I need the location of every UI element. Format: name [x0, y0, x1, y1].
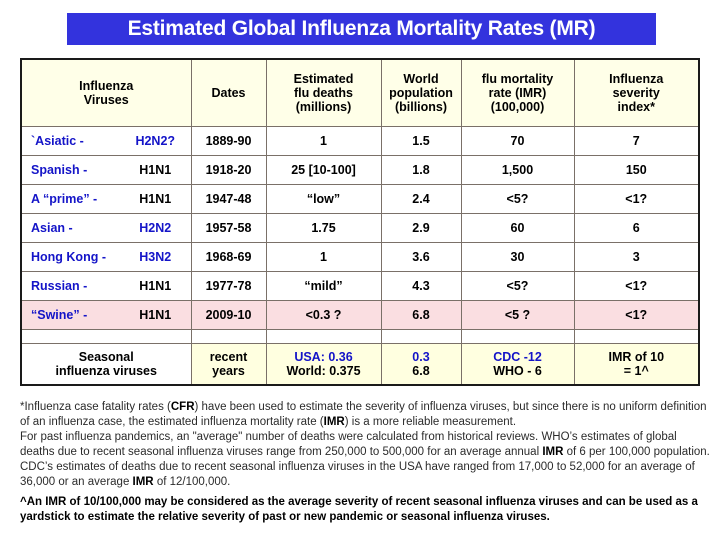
virus-subtype: H1N1 [128, 279, 183, 293]
cell-virus: Russian -H1N1 [21, 272, 191, 301]
seasonal-influenza-row: Seasonalinfluenza virusesrecentyearsUSA:… [21, 344, 699, 386]
cell-world-population: 3.6 [381, 243, 461, 272]
cell-dates: 1889-90 [191, 127, 266, 156]
virus-subtype: H3N2 [128, 250, 183, 264]
virus-name: “Swine” - [31, 308, 128, 322]
header-line: population [389, 86, 453, 100]
header-line: (millions) [296, 100, 352, 114]
header-line: (billions) [395, 100, 447, 114]
cell-flu-mortality-rate: 60 [461, 214, 574, 243]
spacer-cell [574, 330, 699, 344]
header-line: rate (IMR) [489, 86, 547, 100]
spacer-cell [381, 330, 461, 344]
table-row: `Asiatic -H2N2?1889-9011.5707 [21, 127, 699, 156]
cell-virus: Asian -H2N2 [21, 214, 191, 243]
column-header-influenza-viruses: Influenza Viruses [21, 59, 191, 127]
virus-name: Spanish - [31, 163, 128, 177]
virus-name: Asian - [31, 221, 128, 235]
cell-virus: A “prime” -H1N1 [21, 185, 191, 214]
virus-name: Russian - [31, 279, 128, 293]
cell-virus: Hong Kong -H3N2 [21, 243, 191, 272]
cell-world-population: 1.8 [381, 156, 461, 185]
cell-dates: 1918-20 [191, 156, 266, 185]
header-line: Estimated [294, 72, 354, 86]
table-row: A “prime” -H1N11947-48“low”2.4<5?<1? [21, 185, 699, 214]
cell-estimated-flu-deaths: 1 [266, 127, 381, 156]
virus-name: Hong Kong - [31, 250, 128, 264]
seasonal-line-1: 0.3 [384, 350, 459, 364]
cell-estimated-flu-deaths: “mild” [266, 272, 381, 301]
cell-seasonal-severity: IMR of 10= 1^ [574, 344, 699, 386]
cell-dates: 1968-69 [191, 243, 266, 272]
header-line: flu deaths [294, 86, 353, 100]
seasonal-line-1: Seasonal [24, 350, 189, 364]
footnotes-block: *Influenza case fatality rates (CFR) hav… [20, 400, 710, 525]
seasonal-line-1: recent [194, 350, 264, 364]
cell-flu-mortality-rate: <5? [461, 272, 574, 301]
cell-dates: 2009-10 [191, 301, 266, 330]
cell-severity-index: 6 [574, 214, 699, 243]
cell-severity-index: 7 [574, 127, 699, 156]
footnote-text: of 12/100,000. [154, 476, 231, 488]
cell-flu-mortality-rate: <5? [461, 185, 574, 214]
footnote-bold-imr: IMR [542, 446, 563, 458]
header-line: Dates [211, 86, 245, 100]
cell-world-population: 6.8 [381, 301, 461, 330]
column-header-dates: Dates [191, 59, 266, 127]
cell-world-population: 4.3 [381, 272, 461, 301]
cell-flu-mortality-rate: 70 [461, 127, 574, 156]
table-row: Hong Kong -H3N21968-6913.6303 [21, 243, 699, 272]
column-header-world-population: World population (billions) [381, 59, 461, 127]
header-line: index* [617, 100, 655, 114]
cell-world-population: 2.9 [381, 214, 461, 243]
cell-severity-index: <1? [574, 272, 699, 301]
cell-dates: 1947-48 [191, 185, 266, 214]
header-line: severity [613, 86, 660, 100]
spacer-cell [461, 330, 574, 344]
cell-seasonal-imr: CDC -12WHO - 6 [461, 344, 574, 386]
virus-name: A “prime” - [31, 192, 128, 206]
table-row: Asian -H2N21957-581.752.9606 [21, 214, 699, 243]
cell-world-population: 1.5 [381, 127, 461, 156]
cell-severity-index: <1? [574, 301, 699, 330]
seasonal-line-2: World: 0.375 [269, 364, 379, 378]
virus-subtype: H1N1 [128, 163, 183, 177]
cell-virus: “Swine” -H1N1 [21, 301, 191, 330]
cell-severity-index: 150 [574, 156, 699, 185]
cell-virus: Spanish -H1N1 [21, 156, 191, 185]
footnote-paragraph-1: *Influenza case fatality rates (CFR) hav… [20, 400, 710, 430]
page-title: Estimated Global Influenza Mortality Rat… [128, 17, 596, 41]
seasonal-line-2: = 1^ [577, 364, 697, 378]
virus-subtype: H1N1 [128, 192, 183, 206]
seasonal-line-2: WHO - 6 [464, 364, 572, 378]
header-line: Viruses [84, 93, 129, 107]
table-row: Russian -H1N11977-78“mild”4.3<5?<1? [21, 272, 699, 301]
header-line: World [403, 72, 438, 86]
cell-severity-index: <1? [574, 185, 699, 214]
table-row: Spanish -H1N11918-2025 [10-100]1.81,5001… [21, 156, 699, 185]
seasonal-line-2: years [194, 364, 264, 378]
column-header-estimated-flu-deaths: Estimated flu deaths (millions) [266, 59, 381, 127]
cell-dates: 1957-58 [191, 214, 266, 243]
seasonal-line-1: IMR of 10 [577, 350, 697, 364]
cell-flu-mortality-rate: 1,500 [461, 156, 574, 185]
seasonal-line-1: USA: 0.36 [269, 350, 379, 364]
header-line: (100,000) [491, 100, 545, 114]
cell-flu-mortality-rate: <5 ? [461, 301, 574, 330]
cell-seasonal-population: 0.36.8 [381, 344, 461, 386]
table-spacer-row [21, 330, 699, 344]
cell-severity-index: 3 [574, 243, 699, 272]
footnote-bold-cfr: CFR [171, 401, 195, 413]
virus-subtype: H1N1 [128, 308, 183, 322]
spacer-cell [191, 330, 266, 344]
cell-estimated-flu-deaths: 1 [266, 243, 381, 272]
footnote-bold-imr: IMR [324, 416, 345, 428]
spacer-cell [21, 330, 191, 344]
cell-flu-mortality-rate: 30 [461, 243, 574, 272]
footnote-bold-imr: IMR [133, 476, 154, 488]
seasonal-line-1: CDC -12 [464, 350, 572, 364]
spacer-cell [266, 330, 381, 344]
cell-dates: 1977-78 [191, 272, 266, 301]
header-line: Influenza [609, 72, 663, 86]
column-header-influenza-severity-index: Influenza severity index* [574, 59, 699, 127]
table-row: “Swine” -H1N12009-10<0.3 ?6.8<5 ?<1? [21, 301, 699, 330]
virus-name: `Asiatic - [31, 134, 128, 148]
cell-seasonal-dates: recentyears [191, 344, 266, 386]
virus-subtype: H2N2 [128, 221, 183, 235]
table-header-row: Influenza Viruses Dates Estimated flu de… [21, 59, 699, 127]
seasonal-label: Seasonalinfluenza viruses [21, 344, 191, 386]
cell-estimated-flu-deaths: 25 [10-100] [266, 156, 381, 185]
footnote-paragraph-3: ^An IMR of 10/100,000 may be considered … [20, 495, 710, 525]
cell-world-population: 2.4 [381, 185, 461, 214]
cell-virus: `Asiatic -H2N2? [21, 127, 191, 156]
virus-subtype: H2N2? [128, 134, 183, 148]
footnote-paragraph-2: For past influenza pandemics, an "averag… [20, 430, 710, 490]
header-line: flu mortality [482, 72, 554, 86]
footnote-text: *Influenza case fatality rates ( [20, 401, 171, 413]
influenza-mortality-table: Influenza Viruses Dates Estimated flu de… [20, 58, 700, 386]
cell-estimated-flu-deaths: “low” [266, 185, 381, 214]
cell-seasonal-deaths: USA: 0.36World: 0.375 [266, 344, 381, 386]
page-title-banner: Estimated Global Influenza Mortality Rat… [67, 13, 656, 45]
cell-estimated-flu-deaths: <0.3 ? [266, 301, 381, 330]
column-header-flu-mortality-rate: flu mortality rate (IMR) (100,000) [461, 59, 574, 127]
seasonal-line-2: influenza viruses [24, 364, 189, 378]
cell-estimated-flu-deaths: 1.75 [266, 214, 381, 243]
seasonal-line-2: 6.8 [384, 364, 459, 378]
footnote-text: ) is a more reliable measurement. [345, 416, 516, 428]
header-line: Influenza [79, 79, 133, 93]
